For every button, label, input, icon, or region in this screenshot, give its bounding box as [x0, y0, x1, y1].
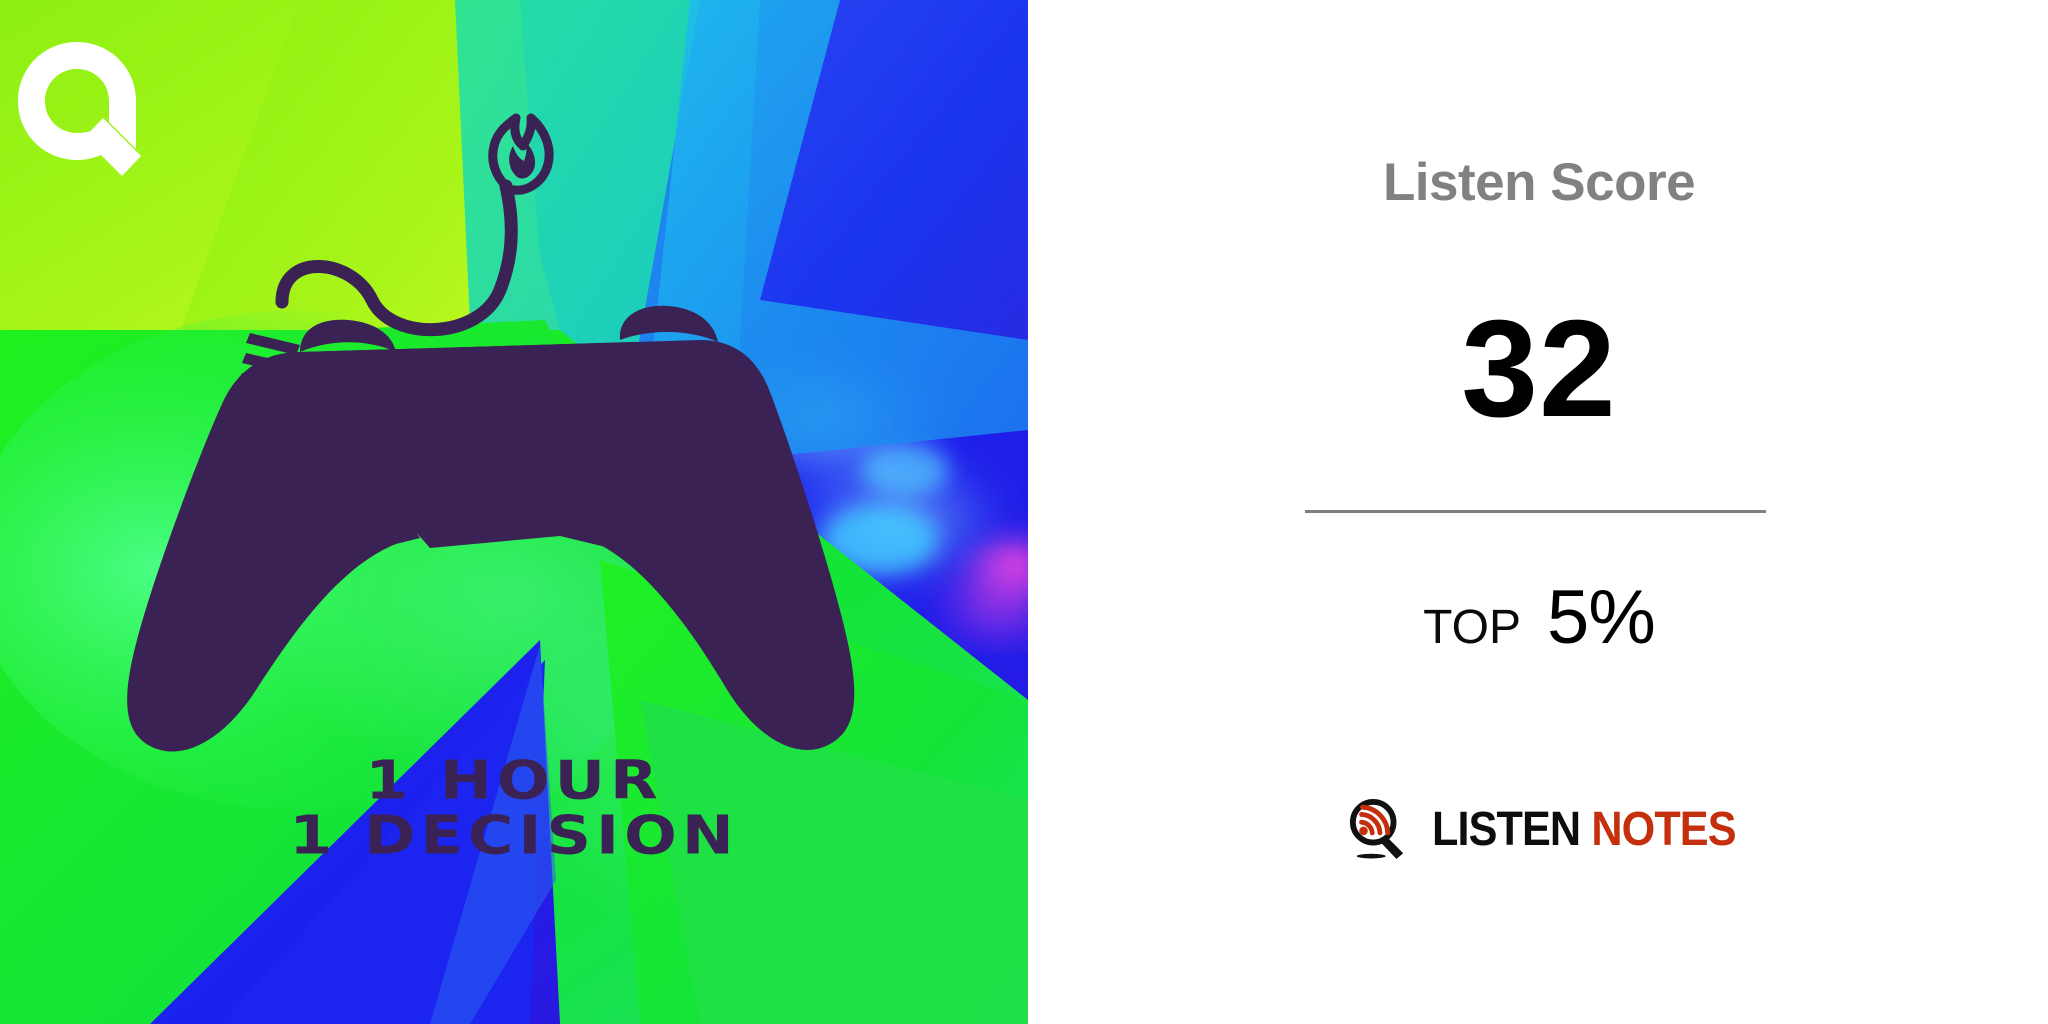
listen-notes-magnifier-rss-icon — [1348, 798, 1410, 860]
listen-notes-brand[interactable]: LISTEN NOTES — [1348, 798, 1769, 860]
listen-notes-wordmark: LISTEN NOTES — [1432, 802, 1736, 857]
listen-score-card: 1 HOUR 1 DECISION Listen Score 32 TOP 5% — [0, 0, 2048, 1024]
podcast-artwork[interactable]: 1 HOUR 1 DECISION — [0, 0, 1028, 1024]
brand-word-notes: NOTES — [1591, 803, 1735, 856]
listen-score-panel: Listen Score 32 TOP 5% LISTEN NO — [1028, 0, 2048, 1024]
listen-score-label: Listen Score — [1029, 152, 2048, 213]
listen-score-value: 32 — [1029, 300, 2048, 438]
artwork-graphic — [0, 0, 1028, 1024]
top-label: TOP — [1423, 600, 1521, 655]
score-divider — [1305, 510, 1766, 513]
top-percent-value: 5% — [1547, 574, 1655, 661]
brand-word-listen: LISTEN — [1432, 803, 1580, 856]
top-percentile-row: TOP 5% — [1029, 574, 2048, 661]
